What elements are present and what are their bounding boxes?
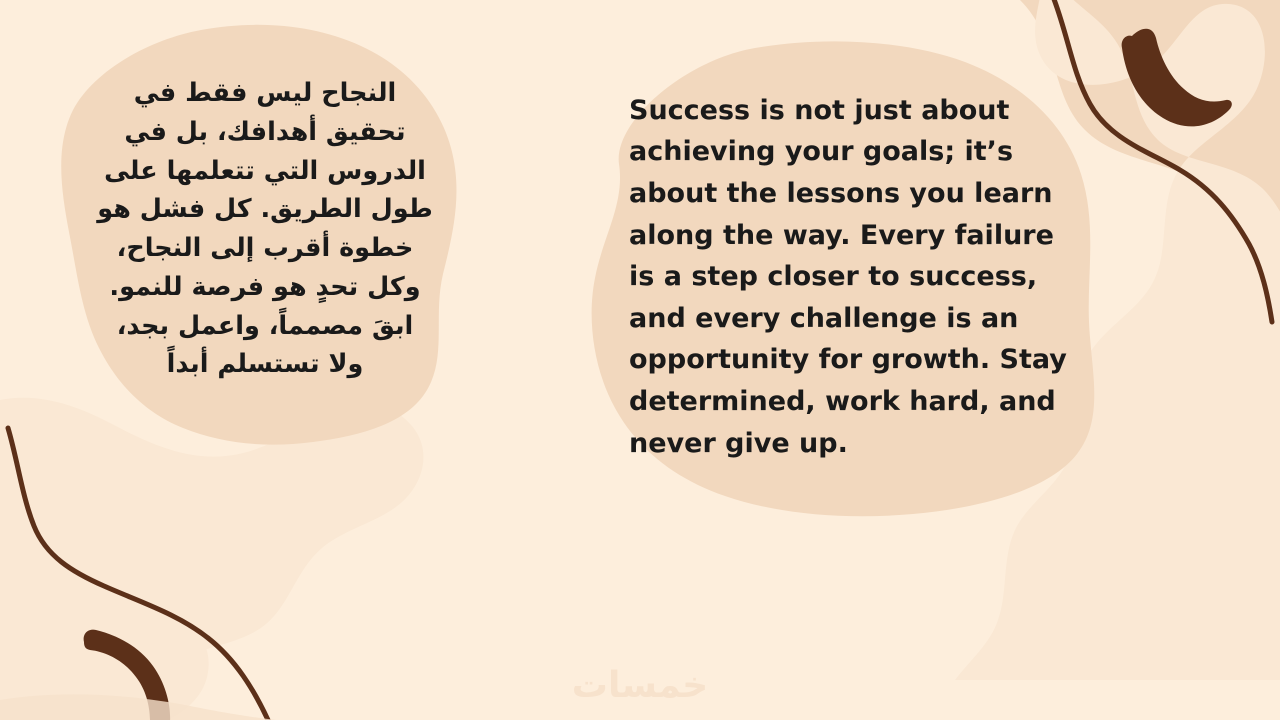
arabic-quote-panel: النجاح ليس فقط في تحقيق أهدافك، بل في ال…: [55, 18, 475, 448]
quote-card-canvas: النجاح ليس فقط في تحقيق أهدافك، بل في ال…: [0, 0, 1280, 720]
top-right-crescent-icon: [1122, 29, 1232, 127]
english-quote-text: Success is not just about achieving your…: [629, 90, 1069, 464]
khamsat-watermark: خمسات: [0, 665, 1280, 706]
english-quote-panel: Success is not just about achieving your…: [565, 40, 1125, 520]
arabic-quote-text: النجاح ليس فقط في تحقيق أهدافك، بل في ال…: [95, 74, 435, 384]
